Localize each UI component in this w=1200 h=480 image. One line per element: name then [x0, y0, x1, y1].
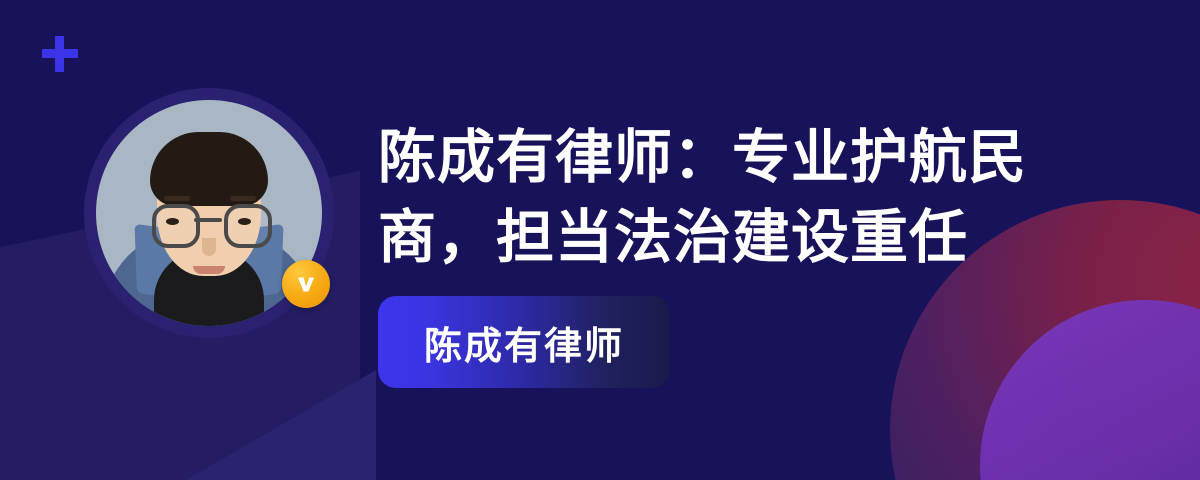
portrait-eye-right — [238, 218, 251, 225]
portrait-brow-left — [164, 196, 190, 201]
portrait-brow-right — [230, 196, 256, 201]
plus-icon — [42, 36, 78, 72]
portrait-hair — [150, 132, 268, 206]
lawyer-promo-banner: 陈成有律师：专业护航民 商，担当法治建设重任 陈成有律师 — [0, 0, 1200, 480]
verified-badge-icon — [282, 260, 330, 308]
portrait-glasses-bridge — [194, 218, 222, 222]
portrait-mouth — [193, 266, 225, 274]
page-title: 陈成有律师：专业护航民 商，担当法治建设重任 — [378, 118, 1098, 278]
portrait-nose — [202, 238, 216, 256]
lawyer-name-button[interactable]: 陈成有律师 — [378, 296, 670, 388]
portrait-eye-left — [166, 218, 179, 225]
decor-center-triangle — [186, 370, 376, 480]
avatar — [84, 88, 334, 338]
portrait-glasses-left — [152, 204, 200, 248]
portrait-glasses-right — [224, 204, 272, 248]
content-column: 陈成有律师：专业护航民 商，担当法治建设重任 陈成有律师 — [378, 118, 1098, 388]
